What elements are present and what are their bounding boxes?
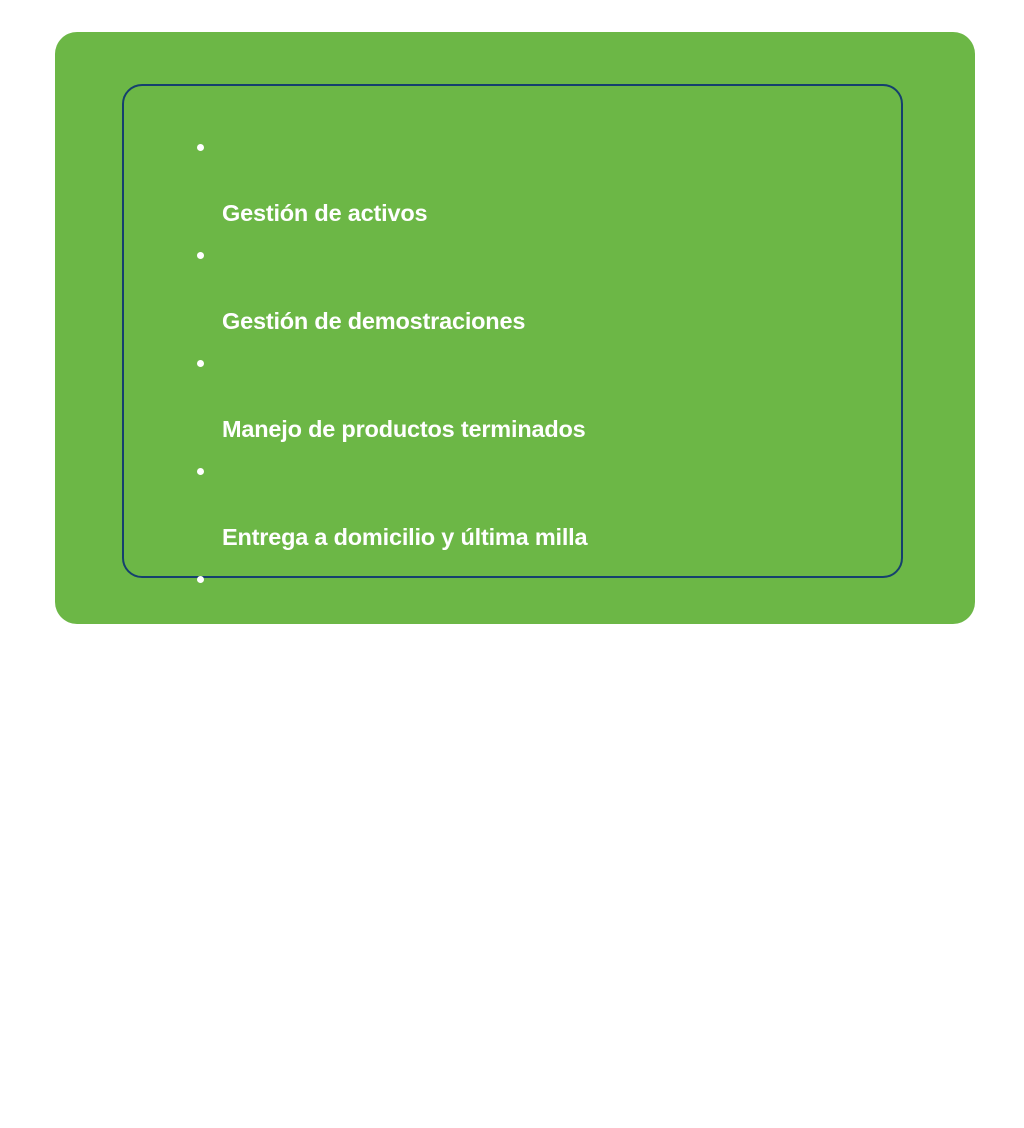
bullet-icon	[197, 933, 204, 940]
bullet-icon	[197, 468, 204, 475]
list-item: Entrega a domicilio y última milla	[193, 454, 853, 555]
list-item-label: Logística inversa	[222, 740, 411, 766]
green-panel: Gestión de activos Gestión de demostraci…	[55, 32, 975, 624]
bullet-icon	[197, 576, 204, 583]
list-item: Logística integrada para racks de servid…	[193, 562, 853, 663]
list-item-label: Servicios médicos y tecnológicos especia…	[222, 848, 593, 908]
list-item: Gestión de activos	[193, 130, 853, 231]
list-item: Gestión de demostraciones	[193, 238, 853, 339]
service-list: Gestión de activos Gestión de demostraci…	[193, 130, 853, 1128]
bullet-icon	[197, 1041, 204, 1048]
list-item-label: Servicios para desarrollo de tiendas	[222, 990, 618, 1016]
list-item-label: Gestión de activos	[222, 200, 427, 226]
list-item: Servicios para desarrollo de tiendas	[193, 920, 853, 1021]
list-item: Servicios médicos y tecnológicos especia…	[193, 778, 853, 912]
list-item-label: Gestión de demostraciones	[222, 308, 525, 334]
list-item-label: Logística para ferias comerciales y even…	[222, 1098, 699, 1124]
bullet-icon	[197, 684, 204, 691]
list-item: Logística inversa	[193, 670, 853, 771]
list-item: Logística para ferias comerciales y even…	[193, 1028, 853, 1128]
list-item-label: Manejo de productos terminados	[222, 416, 586, 442]
bullet-icon	[197, 792, 204, 799]
list-item-label: Entrega a domicilio y última milla	[222, 524, 587, 550]
list-item-label: Logística integrada para racks de servid…	[222, 632, 712, 658]
list-item: Manejo de productos terminados	[193, 346, 853, 447]
bullet-icon	[197, 252, 204, 259]
bullet-icon	[197, 144, 204, 151]
bullet-icon	[197, 360, 204, 367]
